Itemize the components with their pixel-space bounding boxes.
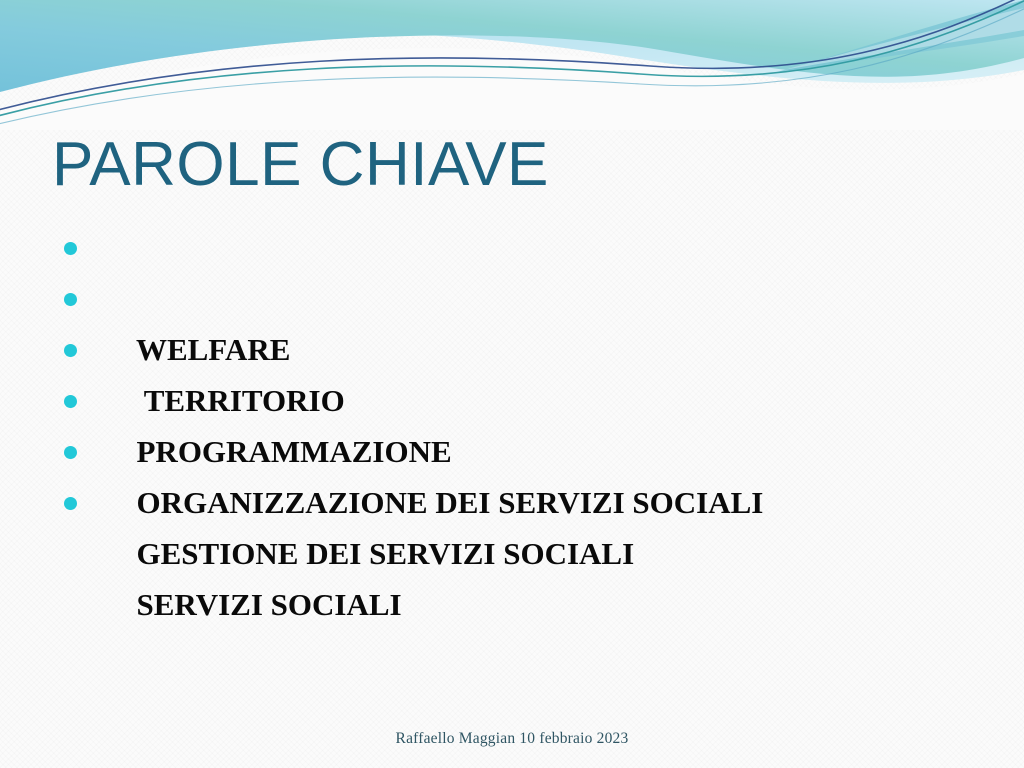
slide-title: PAROLE CHIAVE bbox=[52, 132, 549, 197]
list-item: GESTIONE DEI SERVIZI SOCIALI bbox=[56, 426, 956, 477]
list-item: SERVIZI SOCIALI bbox=[56, 477, 956, 528]
bullet-dot-icon bbox=[64, 497, 77, 510]
list-item: PROGRAMMAZIONE bbox=[56, 324, 956, 375]
list-item: ORGANIZZAZIONE DEI SERVIZI SOCIALI bbox=[56, 375, 956, 426]
bullet-dot-icon bbox=[64, 395, 77, 408]
keyword-bullet-list: WELFARE TERRITORIO PROGRAMMAZIONE ORGANI… bbox=[56, 222, 956, 528]
list-item-label: SERVIZI SOCIALI bbox=[137, 587, 402, 622]
list-item: TERRITORIO bbox=[56, 273, 956, 324]
bullet-dot-icon bbox=[64, 242, 77, 255]
wave-banner-graphic bbox=[0, 0, 1024, 130]
bullet-dot-icon bbox=[64, 293, 77, 306]
bullet-dot-icon bbox=[64, 344, 77, 357]
list-item: WELFARE bbox=[56, 222, 956, 273]
slide-footer: Raffaello Maggian 10 febbraio 2023 bbox=[0, 730, 1024, 748]
bullet-dot-icon bbox=[64, 446, 77, 459]
list-item-label: GESTIONE DEI SERVIZI SOCIALI bbox=[137, 536, 635, 571]
presentation-slide: PAROLE CHIAVE WELFARE TERRITORIO PROGRAM… bbox=[0, 0, 1024, 768]
